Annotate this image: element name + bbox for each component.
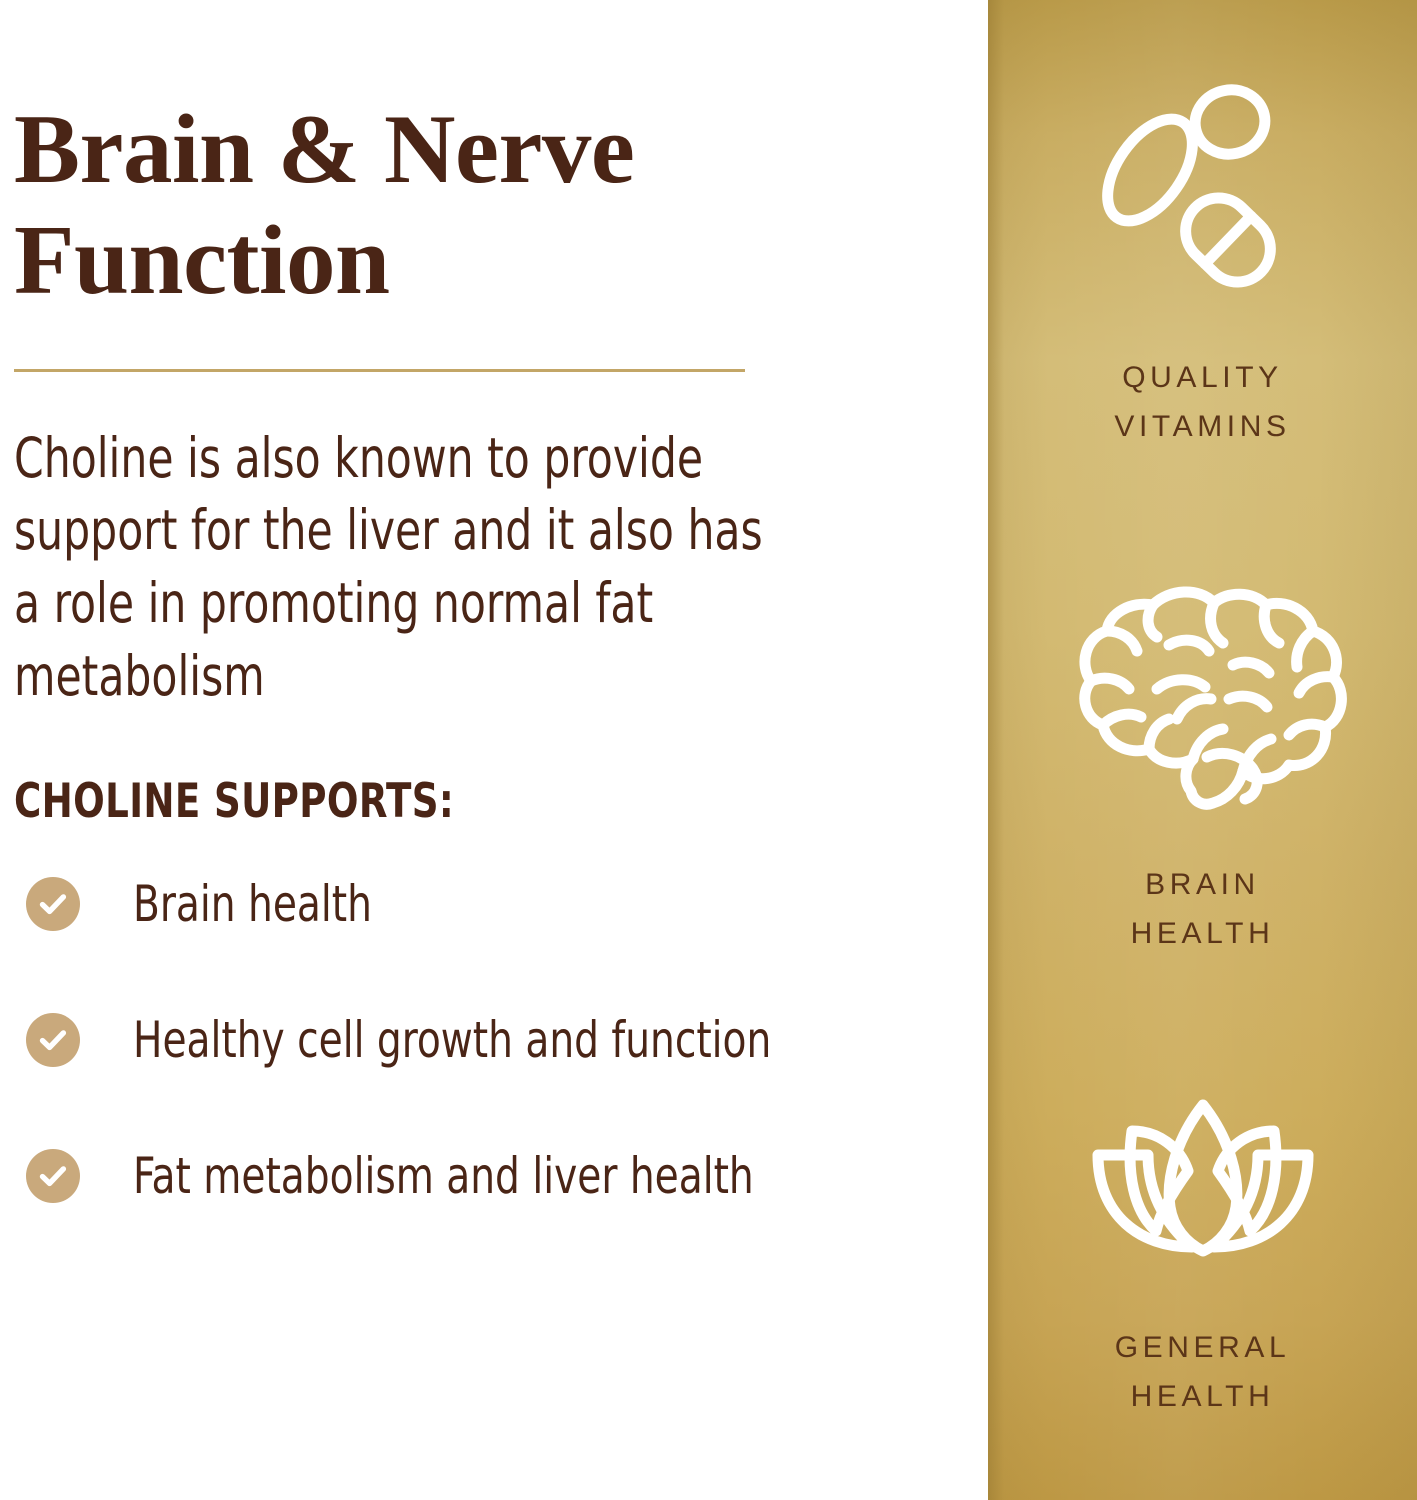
check-icon	[26, 1149, 80, 1203]
benefits-sidebar: QUALITY VITAMINS	[988, 0, 1417, 1500]
sidebar-item-brain-health: BRAIN HEALTH	[988, 579, 1417, 958]
list-item-label: Healthy cell growth and function	[133, 1015, 771, 1065]
sidebar-item-label: GENERAL HEALTH	[1115, 1324, 1291, 1421]
list-item: Healthy cell growth and function	[14, 1013, 988, 1067]
left-content-column: Brain & Nerve Function Choline is also k…	[0, 0, 988, 1500]
pills-icon	[1078, 82, 1328, 312]
lotus-icon	[1088, 1088, 1318, 1268]
sidebar-item-label-line2: HEALTH	[1115, 1373, 1291, 1422]
intro-paragraph: Choline is also known to provide support…	[14, 422, 771, 712]
title-divider	[14, 369, 745, 372]
sidebar-item-label: QUALITY VITAMINS	[1114, 354, 1290, 451]
sidebar-item-label-line1: QUALITY	[1114, 354, 1290, 403]
sidebar-item-label-line2: HEALTH	[1131, 910, 1275, 959]
check-icon	[26, 1013, 80, 1067]
sidebar-item-label: BRAIN HEALTH	[1131, 861, 1275, 958]
page-title: Brain & Nerve Function	[14, 95, 794, 317]
list-item: Fat metabolism and liver health	[14, 1149, 988, 1203]
supports-heading: CHOLINE SUPPORTS:	[14, 774, 871, 829]
list-item-label: Fat metabolism and liver health	[133, 1151, 754, 1201]
benefits-list: Brain health Healthy cell growth and fun…	[14, 877, 988, 1203]
list-item-label: Brain health	[133, 879, 372, 929]
sidebar-item-label-line1: BRAIN	[1131, 861, 1275, 910]
sidebar-item-general-health: GENERAL HEALTH	[988, 1088, 1417, 1421]
check-icon	[26, 877, 80, 931]
list-item: Brain health	[14, 877, 988, 931]
sidebar-item-label-line1: GENERAL	[1115, 1324, 1291, 1373]
brain-icon	[1057, 579, 1349, 815]
sidebar-item-label-line2: VITAMINS	[1114, 403, 1290, 452]
product-info-panel: Brain & Nerve Function Choline is also k…	[0, 0, 1417, 1500]
sidebar-item-quality-vitamins: QUALITY VITAMINS	[988, 82, 1417, 451]
